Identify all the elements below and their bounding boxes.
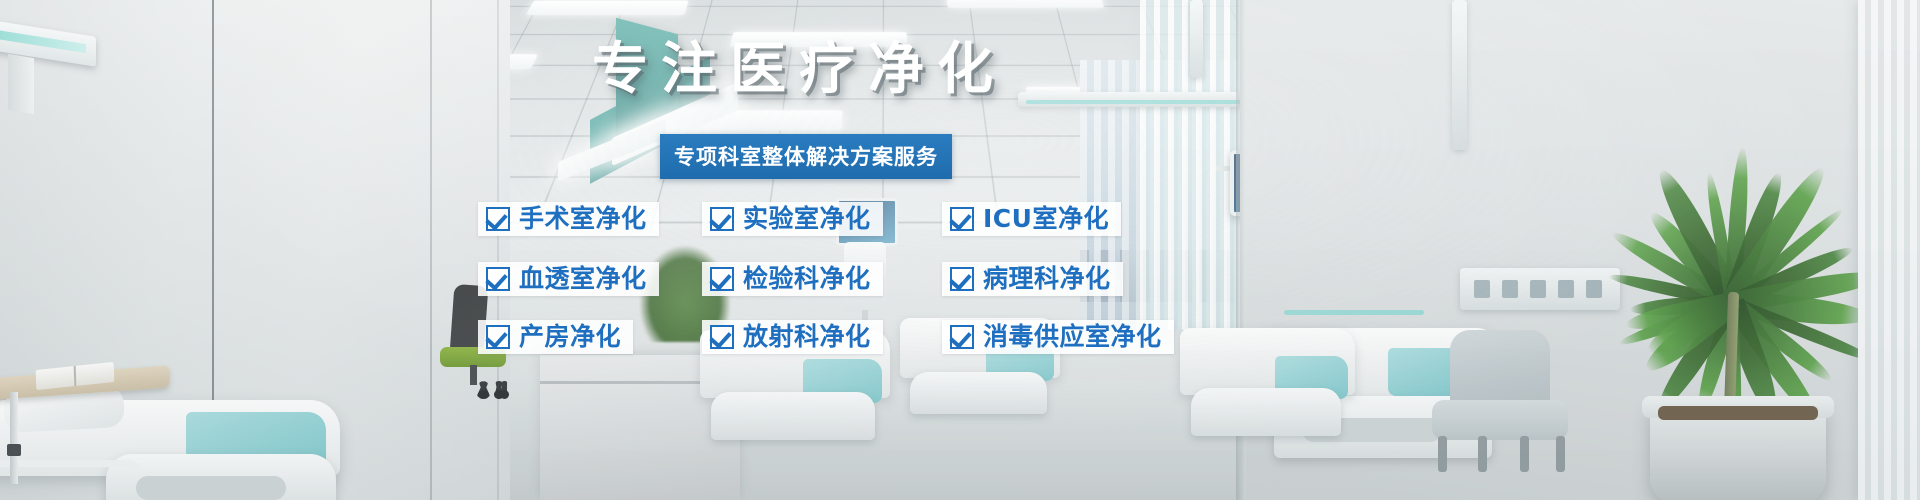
checkbox-checked-icon[interactable] <box>950 325 974 349</box>
banner-text-overlay: 专注医疗净化 专项科室整体解决方案服务 手术室净化实验室净化ICU室净化血透室净… <box>0 0 1920 500</box>
checkbox-checked-icon[interactable] <box>486 267 510 291</box>
service-item-label: 手术室净化 <box>519 206 647 231</box>
page-title: 专注医疗净化 <box>592 42 1006 98</box>
service-item[interactable]: ICU室净化 <box>942 202 1121 236</box>
service-item-label: 检验科净化 <box>743 266 871 291</box>
service-item-label: 血透室净化 <box>519 266 647 291</box>
checkbox-checked-icon[interactable] <box>710 325 734 349</box>
service-item[interactable]: 消毒供应室净化 <box>942 320 1174 354</box>
checkbox-checked-icon[interactable] <box>710 207 734 231</box>
service-item-label: 放射科净化 <box>743 324 871 349</box>
service-item-label: 消毒供应室净化 <box>983 324 1162 349</box>
checkbox-checked-icon[interactable] <box>950 207 974 231</box>
service-item[interactable]: 手术室净化 <box>478 202 659 236</box>
service-item[interactable]: 产房净化 <box>478 320 633 354</box>
service-item-label: 产房净化 <box>519 324 621 349</box>
checkbox-checked-icon[interactable] <box>486 207 510 231</box>
service-item[interactable]: 放射科净化 <box>702 320 883 354</box>
service-item-label: ICU室净化 <box>983 206 1109 231</box>
checkbox-checked-icon[interactable] <box>710 267 734 291</box>
service-item-label: 病理科净化 <box>983 266 1111 291</box>
service-item[interactable]: 实验室净化 <box>702 202 883 236</box>
checkbox-checked-icon[interactable] <box>950 267 974 291</box>
service-item-label: 实验室净化 <box>743 206 871 231</box>
service-item[interactable]: 检验科净化 <box>702 262 883 296</box>
checkbox-checked-icon[interactable] <box>486 325 510 349</box>
service-item[interactable]: 病理科净化 <box>942 262 1123 296</box>
service-item[interactable]: 血透室净化 <box>478 262 659 296</box>
subtitle-banner: 专项科室整体解决方案服务 <box>660 134 952 179</box>
medical-purification-banner: 专注医疗净化 专项科室整体解决方案服务 手术室净化实验室净化ICU室净化血透室净… <box>0 0 1920 500</box>
